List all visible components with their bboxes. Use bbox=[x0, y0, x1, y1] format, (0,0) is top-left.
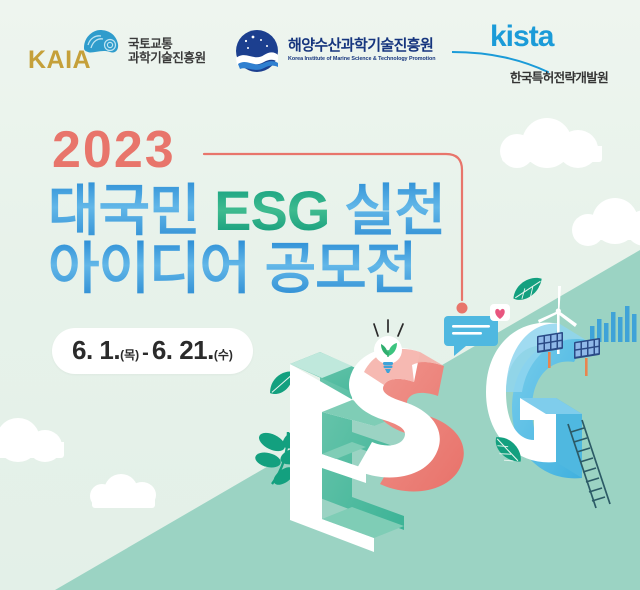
solar-panel-icon bbox=[574, 338, 600, 376]
esg-illustration bbox=[0, 0, 640, 590]
chat-bubble-icon bbox=[444, 316, 498, 356]
bar-chart-icon bbox=[590, 306, 637, 342]
esg-letter-g bbox=[486, 323, 586, 479]
heart-icon bbox=[490, 304, 510, 321]
leaf-icon bbox=[509, 275, 546, 303]
esg-idea-contest-poster: KAIA 국토교통 과학기술진흥원 해양수산과학기술진흥원 Korea In bbox=[0, 0, 640, 590]
